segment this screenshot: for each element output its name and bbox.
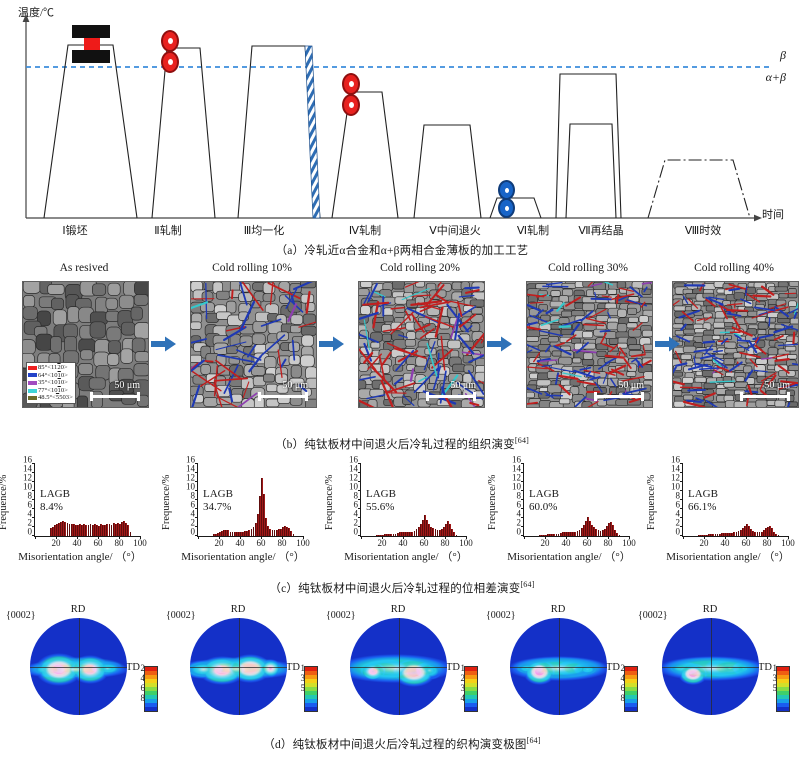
histogram-0-ytickmark-14 — [32, 472, 35, 473]
histogram-1-ytickmark-6 — [195, 508, 198, 509]
histogram-1-xtickmark-60 — [261, 536, 262, 539]
histogram-4-ytickmark-6 — [680, 508, 683, 509]
histogram-4-ytickmark-2 — [680, 526, 683, 527]
cold-roller-upper-vi — [498, 180, 515, 200]
histogram-2-ytickmark-16 — [358, 463, 361, 464]
stage-label-viii: Ⅷ时效 — [685, 222, 722, 238]
caption-c: （c）纯钛板材中间退火后冷轧过程的位相差演变[64] — [0, 580, 804, 596]
panel-c-misorientation-histograms: Frequence/%024681012141620406080100LAGB8… — [0, 460, 804, 590]
histogram-3-ytickmark-6 — [521, 508, 524, 509]
pole-figure-0-td-axis — [30, 667, 127, 668]
histogram-2-lagb-label: LAGB — [366, 488, 396, 501]
caption-a: （a）冷轧近α合金和α+β两相合金薄板的加工工艺 — [0, 242, 804, 258]
pole-figure-4-color-bar-segment — [777, 707, 789, 711]
histogram-4-xtickmark-60 — [746, 536, 747, 539]
histogram-4-lagb-label: LAGB — [688, 488, 718, 501]
pole-figure-4-hkl-label: {0002} — [638, 610, 668, 621]
pole-figure-4-disc — [662, 618, 759, 715]
pole-figure-2-disc — [350, 618, 447, 715]
pole-figure-1-hkl-label: {0002} — [166, 610, 196, 621]
pole-figure-4: {0002}RDTD135 — [632, 604, 792, 732]
pole-figure-3-hkl-label: {0002} — [486, 610, 516, 621]
histogram-4-xtickmark-100 — [788, 536, 789, 539]
panel-b-ebsd-maps: As resivedCold rolling 10%Cold rolling 2… — [0, 262, 804, 447]
pole-figure-3-color-bar-ticks: 2468 — [612, 664, 625, 704]
histogram-3: Frequence/%024681012141620406080100LAGB6… — [489, 460, 649, 578]
histogram-4-ytickmark-16 — [680, 463, 683, 464]
pole-figure-4-rd-label: RD — [703, 604, 718, 615]
histogram-4-ytickmark-12 — [680, 481, 683, 482]
pole-figure-2-color-bar — [464, 666, 478, 712]
histogram-4-ytickmark-10 — [680, 490, 683, 491]
ebsd-legend-row-2: 35°<1010> — [28, 379, 73, 387]
map-title-2: Cold rolling 20% — [380, 262, 460, 274]
histogram-2-ytickmark-10 — [358, 490, 361, 491]
scale-bar-3 — [594, 395, 644, 398]
histogram-2-lagb-value: 55.6% — [366, 501, 396, 514]
ebsd-legend-label-2: 35°<1010> — [38, 379, 68, 387]
pole-figure-2-color-bar-tick: 4 — [452, 694, 465, 703]
histogram-2-xtickmark-20 — [382, 536, 383, 539]
map-title-3: Cold rolling 30% — [548, 262, 628, 274]
histogram-4-bar — [778, 535, 780, 536]
cold-roller-lower-vi — [498, 198, 515, 218]
hot-roller-upper-iv — [342, 73, 360, 95]
panel-d-pole-figures: {0002}RDTD2468{0002}RDTD135{0002}RDTD123… — [0, 604, 804, 744]
histogram-0-xtickmark-100 — [140, 536, 141, 539]
ebsd-legend-swatch-4 — [28, 396, 37, 400]
histogram-4-xtickmark-40 — [725, 536, 726, 539]
histogram-3-xtickmark-0 — [524, 536, 525, 539]
process-arrow-3 — [655, 336, 681, 352]
process-arrow-1 — [319, 336, 345, 352]
histogram-3-x-axis-title: Misorientation angle/ （°） — [489, 548, 649, 564]
histogram-3-y-axis-title: Frequence/% — [487, 462, 498, 542]
caption-b: （b）纯钛板材中间退火后冷轧过程的组织演变[64] — [0, 436, 804, 452]
scale-bar-4 — [740, 395, 790, 398]
histogram-0-y-axis-title: Frequence/% — [0, 462, 9, 542]
histogram-0-lagb-label: LAGB — [40, 488, 70, 501]
ebsd-legend-label-4: 48.5°<5503> — [38, 394, 73, 402]
histogram-0-x-axis-title: Misorientation angle/ （°） — [0, 548, 160, 564]
scale-bar-label-3: 50 μm — [618, 380, 644, 391]
pole-figure-4-color-bar-tick: 1 — [764, 664, 777, 673]
scale-bar-0 — [90, 395, 140, 398]
histogram-4-lagb-annotation: LAGB66.1% — [688, 488, 718, 513]
histogram-2-ytickmark-4 — [358, 517, 361, 518]
hot-roller-lower-ii — [161, 51, 179, 73]
stage-label-v: Ⅴ中间退火 — [429, 222, 481, 238]
scale-bar-label-1: 50 μm — [282, 380, 308, 391]
histogram-0-ytickmark-10 — [32, 490, 35, 491]
stage-label-i: Ⅰ锻坯 — [62, 222, 87, 238]
pole-figure-0-color-bar-tick: 6 — [132, 684, 145, 693]
panel-a-process-schematic: 温度/℃ 时间 — [0, 0, 804, 248]
pole-figure-4-color-bar-ticks: 135 — [764, 664, 777, 694]
panel-a-svg — [0, 0, 804, 248]
histogram-1-xtickmark-0 — [198, 536, 199, 539]
histogram-1-ytickmark-12 — [195, 481, 198, 482]
pole-figure-1-color-bar-tick: 3 — [292, 674, 305, 683]
caption-d: （d）纯钛板材中间退火后冷轧过程的织构演变极图[64] — [0, 736, 804, 752]
histogram-4-y-axis-title: Frequence/% — [646, 462, 657, 542]
stage-label-iii: Ⅲ均一化 — [244, 222, 285, 238]
histogram-3-ytickmark-2 — [521, 526, 524, 527]
histogram-0-ytickmark-2 — [32, 526, 35, 527]
histogram-3-ytickmark-14 — [521, 472, 524, 473]
histogram-3-xtickmark-40 — [566, 536, 567, 539]
alpha-beta-phase-label: α+β — [766, 70, 786, 85]
pole-figure-4-td-axis — [662, 667, 759, 668]
pole-figure-3-disc — [510, 618, 607, 715]
histogram-2-ytickmark-2 — [358, 526, 361, 527]
histogram-4-xtickmark-80 — [767, 536, 768, 539]
histogram-2-xtickmark-0 — [361, 536, 362, 539]
histogram-3-bar — [619, 535, 621, 536]
histogram-3-xtickmark-20 — [545, 536, 546, 539]
histogram-2-xtickmark-40 — [403, 536, 404, 539]
caption-c-ref: [64] — [520, 580, 534, 589]
hot-roller-upper-ii — [161, 30, 179, 52]
histogram-3-ytickmark-16 — [521, 463, 524, 464]
ebsd-legend-row-4: 48.5°<5503> — [28, 394, 73, 402]
histogram-3-xtickmark-100 — [629, 536, 630, 539]
histogram-1-ytickmark-16 — [195, 463, 198, 464]
stage-label-vi: Ⅵ轧制 — [517, 222, 549, 238]
pole-figure-1: {0002}RDTD135 — [160, 604, 320, 732]
caption-b-text: （b）纯钛板材中间退火后冷轧过程的组织演变 — [275, 439, 515, 451]
pole-figure-3-color-bar-tick: 8 — [612, 694, 625, 703]
pole-figure-2-color-bar-ticks: 1234 — [452, 664, 465, 704]
histogram-1-lagb-label: LAGB — [203, 488, 233, 501]
histogram-3-xtickmark-60 — [587, 536, 588, 539]
histogram-3-lagb-annotation: LAGB60.0% — [529, 488, 559, 513]
histogram-4-lagb-value: 66.1% — [688, 501, 718, 514]
pole-figure-2-color-bar-tick: 1 — [452, 664, 465, 673]
histogram-3-lagb-value: 60.0% — [529, 501, 559, 514]
caption-d-text: （d）纯钛板材中间退火后冷轧过程的织构演变极图 — [263, 739, 526, 751]
ebsd-legend-row-0: 85°<1120> — [28, 364, 73, 372]
histogram-3-ytickmark-12 — [521, 481, 524, 482]
scale-bar-2 — [426, 395, 476, 398]
pole-figure-2: {0002}RDTD1234 — [320, 604, 480, 732]
figure-root: 温度/℃ 时间 — [0, 0, 804, 759]
pole-figure-4-color-bar — [776, 666, 790, 712]
histogram-3-xtickmark-80 — [608, 536, 609, 539]
pole-figure-3-color-bar-tick: 2 — [612, 664, 625, 673]
histogram-4: Frequence/%024681012141620406080100LAGB6… — [648, 460, 804, 578]
histogram-2-bar — [456, 535, 458, 536]
pole-figure-2-hkl-label: {0002} — [326, 610, 356, 621]
scale-bar-label-2: 50 μm — [450, 380, 476, 391]
stage-label-vii: Ⅶ再结晶 — [578, 222, 623, 238]
histogram-1-ytickmark-4 — [195, 517, 198, 518]
forging-billet — [84, 38, 100, 50]
map-title-0: As resived — [60, 262, 109, 274]
map-title-1: Cold rolling 10% — [212, 262, 292, 274]
ebsd-boundary-legend: 85°<1120>64°<1010>35°<1010>77°<1010>48.5… — [26, 362, 76, 404]
ebsd-map-3: 50 μm — [526, 281, 653, 408]
histogram-2-ytickmark-6 — [358, 508, 361, 509]
pole-figure-1-color-bar-segment — [305, 707, 317, 711]
pole-figure-1-td-axis — [190, 667, 287, 668]
process-arrow-0 — [151, 336, 177, 352]
stage-label-iv: Ⅳ轧制 — [349, 222, 381, 238]
pole-figure-0-hkl-label: {0002} — [6, 610, 36, 621]
scale-bar-1 — [258, 395, 308, 398]
histogram-0-ytickmark-12 — [32, 481, 35, 482]
histogram-3-ytickmark-8 — [521, 499, 524, 500]
pole-figure-4-color-bar-tick: 5 — [764, 684, 777, 693]
histogram-1-y-axis-title: Frequence/% — [161, 462, 172, 542]
ebsd-legend-label-0: 85°<1120> — [38, 364, 68, 372]
histogram-2-xtickmark-100 — [466, 536, 467, 539]
histogram-1-ytickmark-14 — [195, 472, 198, 473]
histogram-2-xtickmark-60 — [424, 536, 425, 539]
pole-figure-0-color-bar-tick: 4 — [132, 674, 145, 683]
histogram-3-lagb-label: LAGB — [529, 488, 559, 501]
histogram-0-lagb-annotation: LAGB8.4% — [40, 488, 70, 513]
histogram-1-x-axis-title: Misorientation angle/ （°） — [163, 548, 323, 564]
ebsd-map-4: 50 μm — [672, 281, 799, 408]
pole-figure-2-rd-label: RD — [391, 604, 406, 615]
pole-figure-0-color-bar-tick: 2 — [132, 664, 145, 673]
histogram-1-lagb-annotation: LAGB34.7% — [203, 488, 233, 513]
pole-figure-0-color-bar — [144, 666, 158, 712]
histogram-2-ytickmark-12 — [358, 481, 361, 482]
scale-bar-label-4: 50 μm — [764, 380, 790, 391]
histogram-4-xtickmark-0 — [683, 536, 684, 539]
caption-c-text: （c）纯钛板材中间退火后冷轧过程的位相差演变 — [269, 583, 520, 595]
ebsd-map-2: 50 μm — [358, 281, 485, 408]
histogram-3-ytickmark-10 — [521, 490, 524, 491]
histogram-1-ytickmark-2 — [195, 526, 198, 527]
pole-figure-3-td-axis — [510, 667, 607, 668]
pole-figure-0: {0002}RDTD2468 — [0, 604, 160, 732]
pole-figure-0-color-bar-ticks: 2468 — [132, 664, 145, 704]
ebsd-legend-swatch-3 — [28, 389, 37, 393]
beta-phase-label: β — [780, 48, 786, 63]
caption-b-ref: [64] — [515, 436, 529, 445]
histogram-1: Frequence/%024681012141620406080100LAGB3… — [163, 460, 323, 578]
histogram-0-bar — [130, 532, 132, 537]
histogram-2-x-axis-title: Misorientation angle/ （°） — [326, 548, 486, 564]
histogram-2: Frequence/%024681012141620406080100LAGB5… — [326, 460, 486, 578]
histogram-0-lagb-value: 8.4% — [40, 501, 70, 514]
pole-figure-4-color-bar-tick: 3 — [764, 674, 777, 683]
histogram-1-xtickmark-40 — [240, 536, 241, 539]
process-arrow-2 — [487, 336, 513, 352]
pole-figure-2-td-axis — [350, 667, 447, 668]
ebsd-legend-swatch-1 — [28, 373, 37, 377]
pole-figure-3-color-bar-tick: 4 — [612, 674, 625, 683]
pole-figure-3-rd-label: RD — [551, 604, 566, 615]
histogram-0-xtickmark-60 — [98, 536, 99, 539]
ebsd-legend-swatch-2 — [28, 381, 37, 385]
histogram-0: Frequence/%024681012141620406080100LAGB8… — [0, 460, 160, 578]
pole-figure-0-disc — [30, 618, 127, 715]
histogram-1-bar — [293, 534, 295, 536]
ebsd-legend-swatch-0 — [28, 366, 37, 370]
histogram-2-lagb-annotation: LAGB55.6% — [366, 488, 396, 513]
histogram-4-ytickmark-8 — [680, 499, 683, 500]
pole-figure-3: {0002}RDTD2468 — [480, 604, 640, 732]
forging-press-upper-die — [72, 25, 110, 38]
histogram-2-ytickmark-14 — [358, 472, 361, 473]
histogram-0-ytickmark-8 — [32, 499, 35, 500]
histogram-0-xtickmark-40 — [77, 536, 78, 539]
map-title-4: Cold rolling 40% — [694, 262, 774, 274]
pole-figure-2-color-bar-segment — [465, 707, 477, 711]
pole-figure-0-rd-label: RD — [71, 604, 86, 615]
caption-d-ref: [64] — [527, 736, 541, 745]
histogram-1-ytickmark-10 — [195, 490, 198, 491]
histogram-4-x-axis-title: Misorientation angle/ （°） — [648, 548, 804, 564]
histogram-0-xtickmark-20 — [56, 536, 57, 539]
pole-figure-2-color-bar-tick: 3 — [452, 684, 465, 693]
histogram-1-xtickmark-80 — [282, 536, 283, 539]
histogram-0-xtickmark-0 — [35, 536, 36, 539]
pole-figure-0-color-bar-tick: 8 — [132, 694, 145, 703]
scale-bar-label-0: 50 μm — [114, 380, 140, 391]
pole-figure-1-color-bar — [304, 666, 318, 712]
ebsd-map-0: 50 μm85°<1120>64°<1010>35°<1010>77°<1010… — [22, 281, 149, 408]
histogram-1-lagb-value: 34.7% — [203, 501, 233, 514]
forging-press-lower-die — [72, 50, 110, 63]
pole-figure-3-color-bar-tick: 6 — [612, 684, 625, 693]
histogram-1-xtickmark-20 — [219, 536, 220, 539]
ebsd-map-1: 50 μm — [190, 281, 317, 408]
histogram-0-ytickmark-6 — [32, 508, 35, 509]
pole-figure-2-color-bar-tick: 2 — [452, 674, 465, 683]
histogram-0-ytickmark-16 — [32, 463, 35, 464]
pole-figure-0-color-bar-segment — [145, 707, 157, 711]
histogram-0-ytickmark-4 — [32, 517, 35, 518]
histogram-1-xtickmark-100 — [303, 536, 304, 539]
histogram-2-y-axis-title: Frequence/% — [324, 462, 335, 542]
histogram-1-ytickmark-8 — [195, 499, 198, 500]
histogram-3-ytickmark-4 — [521, 517, 524, 518]
stage-label-ii: Ⅱ轧制 — [154, 222, 181, 238]
pole-figure-1-color-bar-tick: 1 — [292, 664, 305, 673]
histogram-4-ytickmark-14 — [680, 472, 683, 473]
histogram-2-xtickmark-80 — [445, 536, 446, 539]
pole-figure-1-rd-label: RD — [231, 604, 246, 615]
histogram-0-xtickmark-80 — [119, 536, 120, 539]
hot-roller-lower-iv — [342, 94, 360, 116]
histogram-4-xtickmark-20 — [704, 536, 705, 539]
histogram-4-ytickmark-4 — [680, 517, 683, 518]
histogram-2-ytickmark-8 — [358, 499, 361, 500]
pole-figure-1-color-bar-tick: 5 — [292, 684, 305, 693]
pole-figure-1-disc — [190, 618, 287, 715]
pole-figure-1-color-bar-ticks: 135 — [292, 664, 305, 694]
